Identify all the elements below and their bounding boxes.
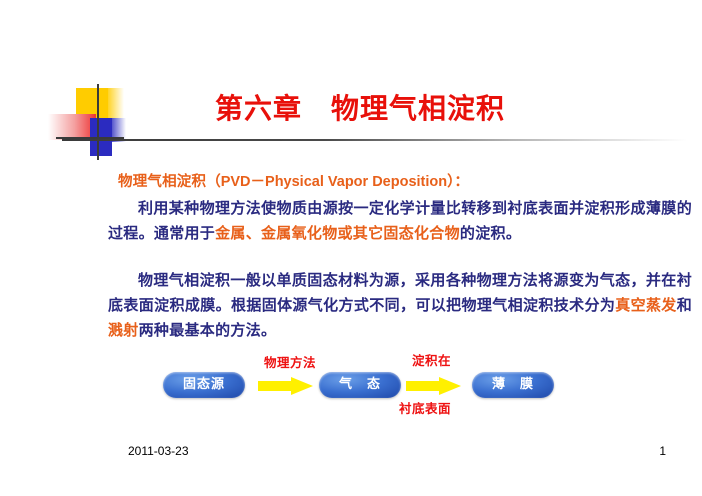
definition-heading: 物理气相淀积（PVD－Physical Vapor Deposition）：	[118, 170, 469, 191]
definition-heading-en: （PVD－Physical Vapor Deposition）：	[206, 174, 469, 190]
ornament-vertical-line	[97, 84, 99, 160]
body-text-run: 物理气相淀积一般以单质固态材料为源，采用各种物理方法将源变为气态，并在衬底表面淀…	[108, 271, 692, 314]
diagram-arrow-vaporize	[258, 377, 316, 395]
diagram-node-gas-phase: 气 态	[319, 372, 401, 398]
highlighted-term: 溅射	[108, 321, 139, 339]
slide-canvas: 第六章 物理气相淀积 物理气相淀积（PVD－Physical Vapor Dep…	[0, 0, 702, 496]
arrow-shaft	[258, 381, 294, 391]
slide-title: 第六章 物理气相淀积	[150, 92, 570, 126]
diagram-node-solid-source: 固态源	[163, 372, 245, 398]
ornament-yellow-fade	[108, 88, 124, 118]
title-divider-rule	[62, 139, 687, 141]
paragraph-classification: 物理气相淀积一般以单质固态材料为源，采用各种物理方法将源变为气态，并在衬底表面淀…	[108, 268, 692, 343]
highlighted-term: 真空蒸发	[615, 296, 676, 314]
diagram-arrow-label-physical-method: 物理方法	[264, 352, 316, 371]
body-text-run: 两种最基本的方法。	[139, 321, 277, 339]
arrow-head-icon	[439, 377, 461, 395]
diagram-arrow-deposit	[406, 377, 464, 395]
title-ornament	[48, 84, 124, 160]
body-text-run: 和	[677, 296, 692, 314]
footer-date: 2011-03-23	[128, 444, 189, 458]
highlighted-term: 金属、金属氧化物或其它固态化合物	[215, 224, 460, 242]
diagram-arrow-label-substrate-surface: 衬底表面	[399, 398, 451, 417]
pvd-process-diagram: 固态源 物理方法 气 态 淀积在 衬底表面 薄 膜	[0, 344, 702, 416]
paragraph-definition: 利用某种物理方法使物质由源按一定化学计量比转移到衬底表面并淀积形成薄膜的过程。通…	[108, 196, 692, 246]
body-text-run: 的淀积。	[460, 224, 521, 242]
diagram-node-thin-film: 薄 膜	[472, 372, 554, 398]
definition-heading-cn: 物理气相淀积	[118, 174, 206, 190]
footer-page-number: 1	[659, 444, 666, 458]
arrow-shaft	[406, 381, 442, 391]
arrow-head-icon	[291, 377, 313, 395]
diagram-arrow-label-deposit-on: 淀积在	[412, 350, 451, 369]
